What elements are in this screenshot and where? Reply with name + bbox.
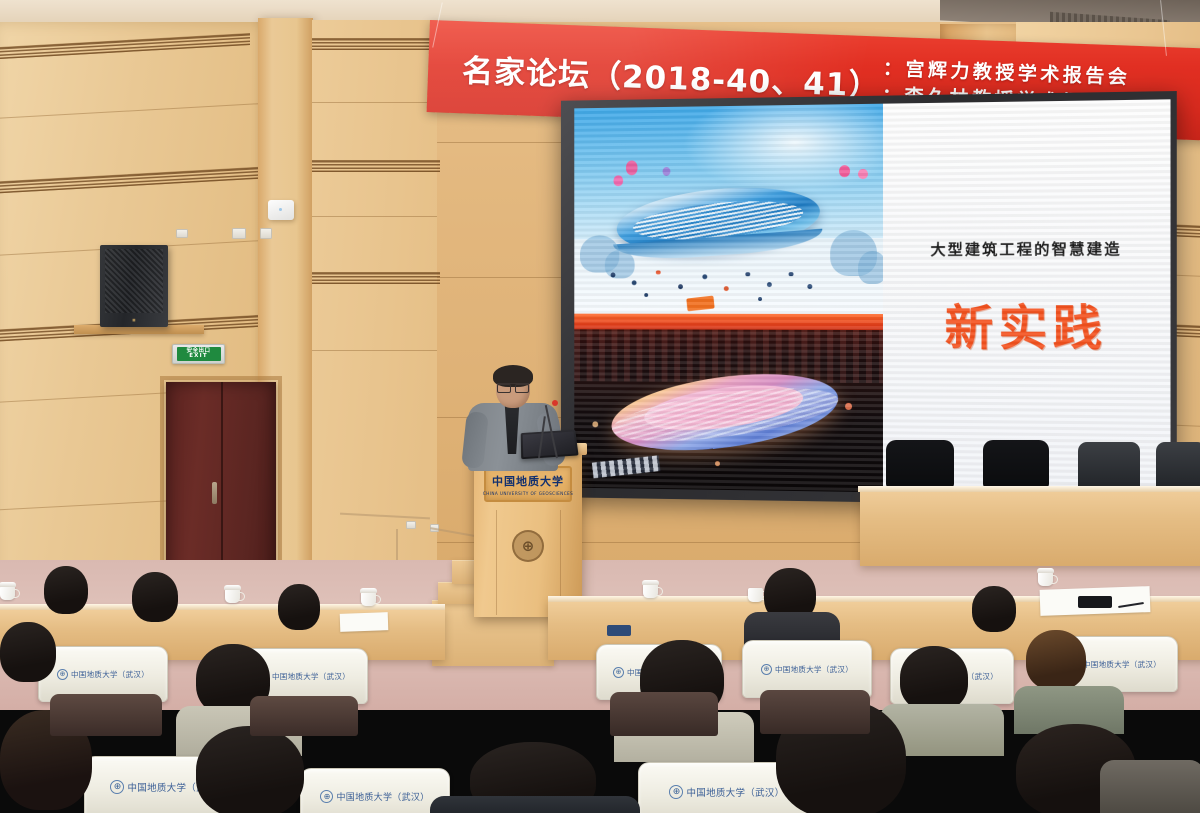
audience-head — [900, 646, 968, 712]
mobile-phone[interactable] — [1078, 596, 1112, 608]
slide-headline: 新实践 — [945, 287, 1108, 358]
seat-cover-label: 中国地质大学（武汉） — [272, 671, 350, 682]
university-logo-icon: ⊕ — [57, 669, 68, 680]
tea-mug[interactable] — [361, 592, 376, 606]
tea-mug-lid — [360, 588, 377, 593]
speaker-grille — [105, 249, 163, 313]
eyeglasses-icon — [497, 383, 529, 390]
stage-desk — [860, 488, 1200, 566]
door-center-seam — [221, 382, 223, 590]
seat-cover-label: 中国地质大学（武汉） — [775, 664, 853, 675]
microphone-icon — [552, 400, 558, 406]
audience-head-foreground — [196, 726, 304, 813]
lectern-podium: 中国地质大学 CHINA UNIVERSITY OF GEOSCIENCES ⊕ — [474, 452, 582, 617]
projection-screen: 大型建筑工程的智慧建造 新实践 — [574, 99, 1170, 496]
tea-mug-lid — [224, 585, 241, 590]
tea-mug[interactable] — [748, 588, 763, 602]
university-logo-icon: ⊕ — [761, 664, 772, 675]
seat-cover-label: 中国地质大学（武汉） — [71, 669, 149, 680]
stage-desk-edge — [858, 486, 1200, 492]
wireless-access-point-icon — [268, 200, 294, 220]
podium-plaque: 中国地质大学 CHINA UNIVERSITY OF GEOSCIENCES — [484, 466, 572, 502]
stage-chair[interactable] — [1156, 442, 1200, 490]
podium-plaque-english-name: CHINA UNIVERSITY OF GEOSCIENCES — [483, 491, 573, 496]
audience-chair[interactable] — [610, 692, 718, 736]
seat-cover-label: 中国地质大学（武汉） — [1083, 659, 1161, 670]
audience-head — [278, 584, 320, 630]
tea-mug[interactable] — [1038, 572, 1053, 586]
lecture-hall-photo: ■ 安全出口 EXIT 名家论坛（2018-40、41） ：宫辉力教授学术报告会… — [0, 0, 1200, 813]
wall-outlet — [260, 228, 272, 239]
tea-mug-lid — [0, 582, 16, 587]
loudspeaker-box: ■ — [100, 245, 168, 327]
audience-head — [132, 572, 178, 622]
audience-shoulders — [430, 796, 640, 813]
audience-chair[interactable] — [50, 694, 162, 736]
seat-cover-label: 中国地质大学（武汉） — [686, 785, 784, 799]
door-handle[interactable] — [212, 482, 217, 504]
exit-sign-english-label: EXIT — [189, 354, 208, 360]
exit-sign: 安全出口 EXIT — [172, 344, 225, 364]
university-logo-icon: ⊕ — [320, 790, 333, 803]
tea-mug[interactable] — [0, 586, 15, 600]
ap-status-led — [279, 208, 282, 211]
presentation-laptop — [521, 430, 579, 460]
audience-head — [972, 586, 1016, 632]
university-emblem-icon: ⊕ — [512, 530, 544, 562]
audience-shoulders — [1100, 760, 1200, 813]
university-logo-icon: ⊕ — [110, 780, 124, 794]
stage-chair[interactable] — [983, 440, 1049, 488]
audience-head — [44, 566, 88, 614]
university-logo-icon: ⊕ — [669, 785, 683, 799]
booklet[interactable] — [607, 625, 631, 636]
tea-mug[interactable] — [643, 584, 658, 598]
wall-outlet — [232, 228, 246, 239]
slide-image-daytime-oval — [574, 104, 883, 314]
speaker-brand-label: ■ — [132, 318, 136, 322]
seat-cover-label: 中国地质大学（武汉） — [336, 790, 429, 803]
audience-head — [0, 622, 56, 682]
exit-door[interactable] — [166, 382, 276, 590]
university-logo-icon: ⊕ — [613, 667, 624, 678]
tea-mug-lid — [1037, 568, 1054, 573]
slide-image-column — [574, 104, 883, 493]
slide-image-night-oval — [574, 313, 883, 492]
audience-chair[interactable] — [760, 690, 870, 734]
laptop-screen — [523, 432, 577, 458]
wall-outlet — [176, 229, 188, 238]
slide-subtitle: 大型建筑工程的智慧建造 — [930, 237, 1121, 259]
podium-plaque-chinese-name: 中国地质大学 — [492, 473, 564, 489]
tea-mug[interactable] — [225, 589, 240, 603]
audience-chair[interactable] — [250, 696, 358, 736]
document-paper[interactable] — [340, 612, 389, 632]
seat-cover: ⊕ 中国地质大学（武汉） — [300, 768, 450, 813]
stage-chair[interactable] — [1078, 442, 1140, 490]
audience-head — [1026, 630, 1086, 690]
tea-mug-lid — [642, 580, 659, 585]
slide-text-column: 大型建筑工程的智慧建造 新实践 — [883, 99, 1170, 496]
wall-outlet — [406, 521, 416, 529]
stage-chair[interactable] — [886, 440, 954, 488]
